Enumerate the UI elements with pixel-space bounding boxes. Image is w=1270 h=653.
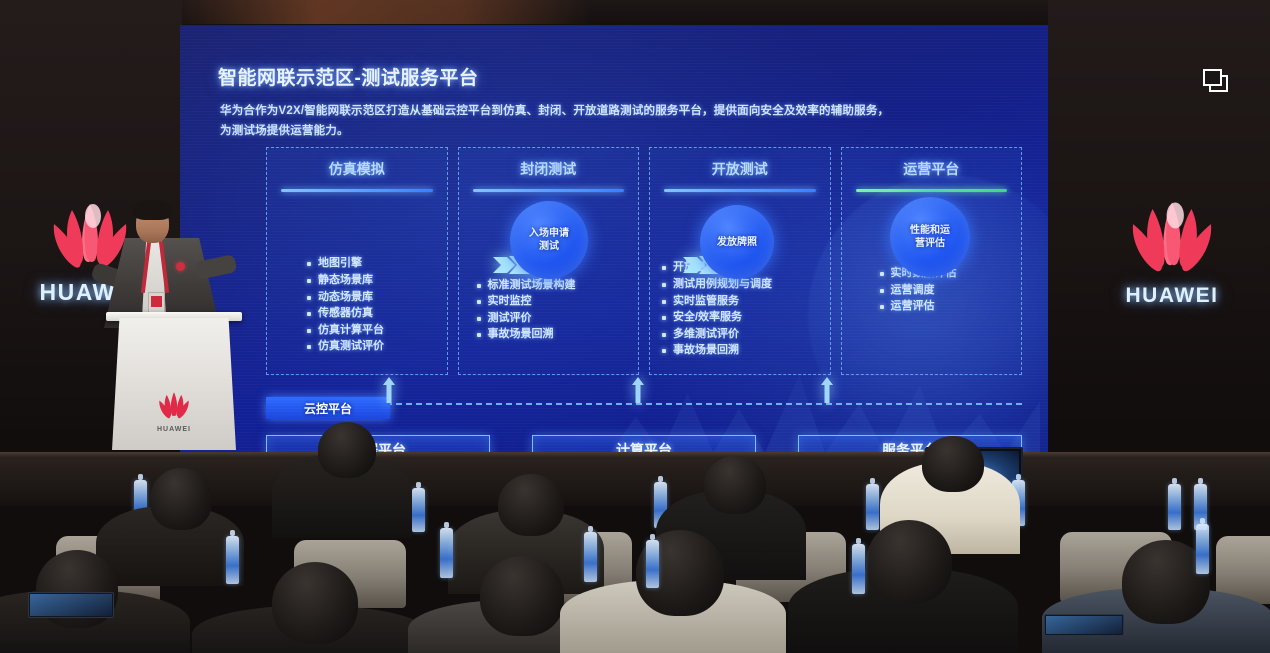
water-bottle	[646, 540, 659, 588]
audience-person-head	[498, 474, 564, 536]
circle-label: 发放牌照	[717, 236, 757, 249]
audience-person-head	[480, 556, 564, 636]
ceiling-light-glow	[170, 0, 590, 24]
bullet-text: 动态场景库	[318, 290, 373, 306]
podium-wordmark: HUAWEI	[151, 426, 197, 433]
list-item: 动态场景库	[307, 290, 439, 306]
list-item: 仿真测试评价	[307, 339, 439, 355]
arrow-up-icon	[632, 377, 644, 403]
bullet-dot-icon	[662, 300, 666, 304]
bullet-dot-icon	[662, 316, 666, 320]
audience-person-head	[866, 520, 952, 604]
circle-label: 性能和运 营评估	[910, 224, 950, 250]
bullet-dot-icon	[307, 296, 311, 300]
bullet-dot-icon	[880, 272, 884, 276]
bullet-text: 运营评估	[891, 299, 935, 315]
bullet-dot-icon	[307, 329, 311, 333]
bullet-text: 事故场景回溯	[488, 327, 554, 343]
column-bullet-list: 标准测试场景构建 实时监控 测试评价 事故场景回溯	[477, 278, 631, 344]
audience-person-head	[922, 436, 984, 492]
list-item: 运营评估	[880, 299, 1014, 315]
water-bottle	[226, 536, 239, 584]
list-item: 事故场景回溯	[662, 343, 822, 359]
list-item: 静态场景库	[307, 273, 439, 289]
list-item: 事故场景回溯	[477, 327, 631, 343]
bullet-text: 仿真测试评价	[318, 339, 384, 355]
milestone-entry-application-test: 入场申请 测试	[510, 201, 588, 279]
bullet-dot-icon	[307, 312, 311, 316]
column-simulation: 仿真模拟 地图引擎 静态场景库 动态场景库 传感器仿真 仿真计算平台 仿真测试评…	[266, 147, 448, 375]
list-item: 运营调度	[880, 283, 1014, 299]
slide-subtitle-line2: 为测试场提供运营能力。	[220, 125, 349, 137]
arrow-up-icon	[383, 377, 395, 403]
column-rule	[281, 189, 433, 192]
list-item: 测试评价	[477, 311, 631, 327]
list-item: 地图引擎	[307, 256, 439, 272]
bullet-dot-icon	[880, 305, 884, 309]
bullet-text: 运营调度	[891, 283, 935, 299]
water-bottle	[412, 488, 425, 532]
bullet-dot-icon	[662, 333, 666, 337]
audience-person-head	[704, 456, 766, 514]
duplicate-windows-icon[interactable]	[1200, 66, 1236, 100]
bullet-text: 测试评价	[488, 311, 532, 327]
audience-person-head	[272, 562, 358, 644]
column-rule	[473, 189, 625, 192]
bullet-dot-icon	[307, 345, 311, 349]
bullet-text: 地图引擎	[318, 256, 362, 272]
conference-room-scene: 智能网联示范区-测试服务平台 华为合作为V2X/智能网联示范区打造从基础云控平台…	[0, 0, 1270, 653]
speaker-badge-inner	[151, 296, 162, 307]
speaker-hair	[133, 200, 172, 220]
huawei-logo-right: HUAWEI	[1110, 196, 1234, 308]
podium: HUAWEI	[112, 318, 236, 450]
milestone-issue-license: 发放牌照	[700, 205, 774, 279]
water-bottle	[852, 544, 865, 594]
bullet-text: 事故场景回溯	[673, 343, 739, 359]
column-bullet-list: 地图引擎 静态场景库 动态场景库 传感器仿真 仿真计算平台 仿真测试评价	[307, 256, 439, 356]
bullet-dot-icon	[477, 300, 481, 304]
laptop-screen	[30, 594, 112, 616]
circle-label: 入场申请 测试	[529, 227, 569, 253]
milestone-performance-operations-eval: 性能和运 营评估	[890, 197, 970, 277]
water-bottle	[1196, 524, 1209, 574]
water-bottle	[584, 532, 597, 582]
bullet-text: 静态场景库	[318, 273, 373, 289]
column-title: 仿真模拟	[267, 159, 447, 179]
column-bullet-list: 实时数据评估 运营调度 运营评估	[880, 266, 1014, 316]
audience-person-head	[318, 422, 376, 478]
list-item: 安全/效率服务	[662, 310, 822, 326]
bullet-dot-icon	[307, 262, 311, 266]
bullet-dot-icon	[880, 289, 884, 293]
bullet-dot-icon	[477, 284, 481, 288]
bullet-dot-icon	[477, 317, 481, 321]
water-bottle	[1168, 484, 1181, 530]
audience-person-head	[150, 468, 212, 530]
podium-huawei-logo: HUAWEI	[151, 390, 197, 433]
slide-subtitle-line1: 华为合作为V2X/智能网联示范区打造从基础云控平台到仿真、封闭、开放道路测试的服…	[220, 105, 889, 117]
column-title: 运营平台	[842, 159, 1022, 179]
projection-screen: 智能网联示范区-测试服务平台 华为合作为V2X/智能网联示范区打造从基础云控平台…	[180, 25, 1048, 463]
bullet-text: 多维测试评价	[673, 327, 739, 343]
bullet-dot-icon	[662, 349, 666, 353]
water-bottle	[866, 484, 879, 530]
laptop[interactable]	[28, 592, 114, 618]
bullet-text: 安全/效率服务	[673, 310, 742, 326]
bullet-text: 实时监控	[488, 294, 532, 310]
column-rule	[856, 189, 1008, 192]
bullet-text: 实时监管服务	[673, 294, 739, 310]
list-item: 实时监控	[477, 294, 631, 310]
water-bottle	[440, 528, 453, 578]
list-item: 仿真计算平台	[307, 323, 439, 339]
laptop-screen	[1046, 616, 1122, 634]
bullet-text: 传感器仿真	[318, 306, 373, 322]
audience-foreground	[0, 440, 1270, 653]
huawei-flower-icon	[1110, 196, 1234, 281]
bullet-text: 仿真计算平台	[318, 323, 384, 339]
cloud-platform-tag: 云控平台	[266, 397, 390, 419]
bullet-dot-icon	[307, 279, 311, 283]
slide-title: 智能网联示范区-测试服务平台	[218, 63, 478, 90]
slide-subtitle: 华为合作为V2X/智能网联示范区打造从基础云控平台到仿真、封闭、开放道路测试的服…	[220, 101, 1020, 141]
huawei-wordmark: HUAWEI	[1110, 284, 1234, 308]
column-title: 开放测试	[650, 159, 830, 179]
bullet-dot-icon	[662, 283, 666, 287]
list-item: 实时监管服务	[662, 294, 822, 310]
list-item: 多维测试评价	[662, 327, 822, 343]
column-title: 封闭测试	[459, 159, 639, 179]
arrow-up-icon	[821, 377, 833, 403]
speaker-lapel-pin	[176, 262, 185, 271]
column-rule	[664, 189, 816, 192]
bullet-dot-icon	[477, 333, 481, 337]
bullet-dot-icon	[662, 266, 666, 270]
laptop[interactable]	[1044, 614, 1124, 636]
list-item: 传感器仿真	[307, 306, 439, 322]
